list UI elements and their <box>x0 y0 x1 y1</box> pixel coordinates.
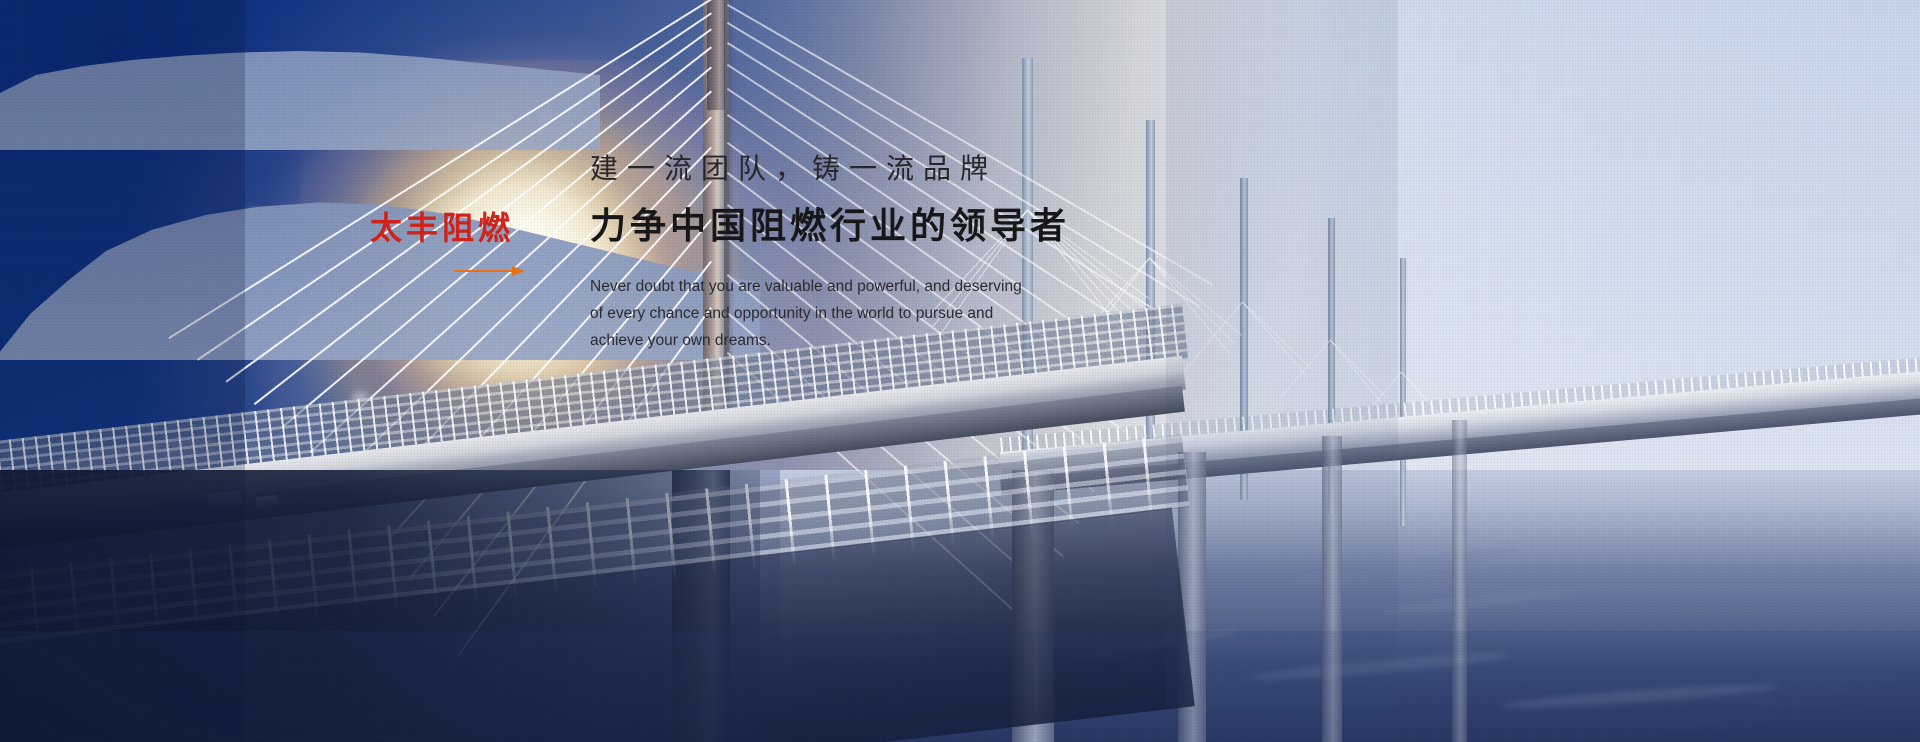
arrow-head <box>512 266 525 276</box>
lead-paragraph: Never doubt that you are valuable and po… <box>590 273 1060 354</box>
brand-logo[interactable]: 太丰阻燃 <box>370 212 550 276</box>
banner-content: 太丰阻燃 建一流团队，铸一流品牌 力争中国阻燃行业的领导者 Never doub… <box>0 0 1920 742</box>
hero-banner: 太丰阻燃 建一流团队，铸一流品牌 力争中国阻燃行业的领导者 Never doub… <box>0 0 1920 742</box>
arrow-right-icon <box>454 266 526 276</box>
lead-paragraph-line-3: achieve your own dreams. <box>590 327 1060 354</box>
lead-paragraph-line-2: of every chance and opportunity in the w… <box>590 300 1060 327</box>
headline-block: 建一流团队，铸一流品牌 力争中国阻燃行业的领导者 Never doubt tha… <box>590 150 1290 354</box>
headline-subtitle: 建一流团队，铸一流品牌 <box>590 150 1290 188</box>
arrow-line <box>454 270 518 272</box>
lead-paragraph-line-1: Never doubt that you are valuable and po… <box>590 273 1060 300</box>
headline-title: 力争中国阻燃行业的领导者 <box>590 204 1290 251</box>
brand-name: 太丰阻燃 <box>370 212 550 244</box>
